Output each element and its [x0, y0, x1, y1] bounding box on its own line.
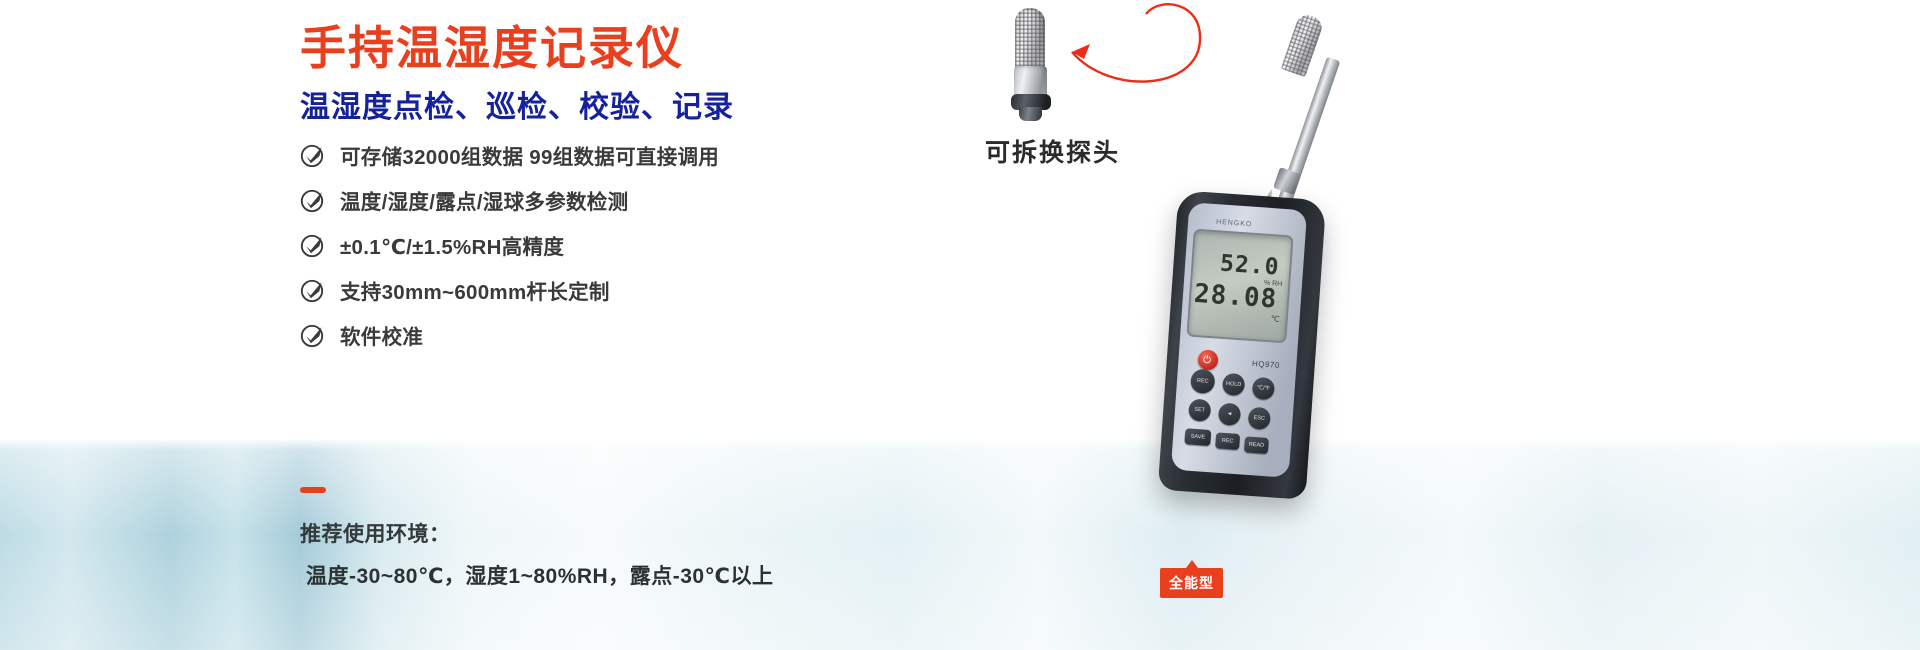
page-subtitle: 温湿度点检、巡检、校验、记录: [300, 82, 734, 126]
circle-check-icon: [300, 142, 326, 168]
probe-label: 可拆换探头: [985, 133, 1120, 169]
device-key: HOLD: [1222, 373, 1245, 396]
circle-check-icon: [300, 232, 326, 258]
status-badge: 全能型: [1160, 568, 1223, 598]
lcd-temperature-unit: ℃: [1270, 314, 1280, 324]
lcd-humidity-value: 52.0: [1219, 251, 1280, 281]
list-item-label: 支持30mm~600mm杆长定制: [340, 275, 610, 305]
recommended-environment-detail: 温度-30~80℃，湿度1~80%RH，露点-30℃以上: [306, 560, 774, 590]
list-item: 支持30mm~600mm杆长定制: [300, 267, 1000, 312]
device-key: ◄: [1218, 403, 1241, 426]
device-lcd-screen: 52.0 % RH 28.08 ℃: [1186, 229, 1293, 344]
device-key: REC: [1190, 368, 1216, 394]
product-device-image: HENGKO 52.0 % RH 28.08 ℃ ⏻ HQ970 REC HOL…: [1130, 20, 1360, 500]
device-key: REC: [1215, 432, 1240, 450]
circle-check-icon: [300, 322, 326, 348]
device-key: ℃/℉: [1252, 377, 1275, 400]
recommended-environment-title: 推荐使用环境：: [300, 518, 451, 548]
device-key: READ: [1244, 436, 1269, 454]
list-item-label: 可存储32000组数据 99组数据可直接调用: [340, 140, 719, 170]
circle-check-icon: [300, 187, 326, 213]
background-bottom-photo: [0, 440, 1920, 650]
probe-mesh-filter: [1015, 8, 1045, 70]
circle-check-icon: [300, 277, 326, 303]
power-icon: ⏻: [1203, 355, 1212, 367]
device-keypad: REC HOLD ℃/℉ SET ◄ ESC SAVE REC READ: [1181, 368, 1300, 476]
feature-list: 可存储32000组数据 99组数据可直接调用 温度/湿度/露点/湿球多参数检测 …: [300, 132, 1000, 357]
lcd-temperature-value: 28.08: [1193, 279, 1278, 315]
device-key: SAVE: [1184, 428, 1211, 446]
probe-connector-tip: [1019, 107, 1042, 121]
list-item: 软件校准: [300, 312, 1000, 357]
product-banner: 手持温湿度记录仪 温湿度点检、巡检、校验、记录 可存储32000组数据 99组数…: [0, 0, 1920, 650]
list-item-label: 软件校准: [340, 320, 423, 350]
device-key: SET: [1188, 398, 1211, 421]
device-key: ESC: [1248, 407, 1271, 430]
device-probe-mesh: [1281, 12, 1325, 77]
page-title: 手持温湿度记录仪: [300, 12, 684, 78]
list-item: ±0.1℃/±1.5%RH高精度: [300, 222, 1000, 267]
note-divider-dash: [300, 487, 326, 493]
device-model-label: HQ970: [1252, 359, 1280, 370]
list-item: 温度/湿度/露点/湿球多参数检测: [300, 177, 1000, 222]
list-item-label: ±0.1℃/±1.5%RH高精度: [340, 230, 564, 260]
list-item: 可存储32000组数据 99组数据可直接调用: [300, 132, 1000, 177]
list-item-label: 温度/湿度/露点/湿球多参数检测: [340, 185, 628, 215]
